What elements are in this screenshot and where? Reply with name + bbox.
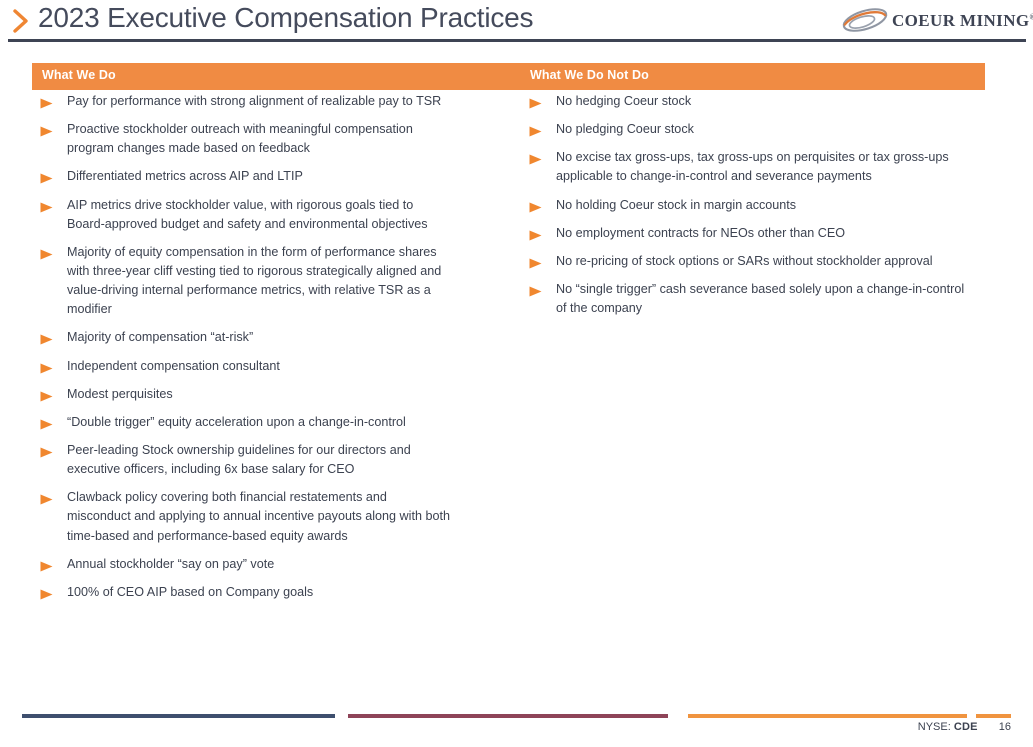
triangle-bullet-icon — [529, 284, 542, 295]
coeur-swoosh-icon — [840, 7, 890, 33]
list-item: Proactive stockholder outreach with mean… — [40, 120, 452, 158]
bullet-text: No pledging Coeur stock — [556, 120, 969, 139]
bullet-text: Majority of equity compensation in the f… — [67, 243, 452, 320]
list-item: Pay for performance with strong alignmen… — [40, 92, 452, 111]
what-we-do-heading: What We Do — [42, 68, 116, 82]
bullet-text: No re-pricing of stock options or SARs w… — [556, 252, 969, 271]
bullet-text: Clawback policy covering both financial … — [67, 488, 452, 545]
title-underline-rule — [8, 39, 1026, 42]
bullet-text: Modest perquisites — [67, 385, 452, 404]
bullet-text: AIP metrics drive stockholder value, wit… — [67, 196, 452, 234]
triangle-bullet-icon — [40, 171, 53, 182]
list-item: No excise tax gross-ups, tax gross-ups o… — [529, 148, 969, 186]
bullet-text: No employment contracts for NEOs other t… — [556, 224, 969, 243]
logo-company-name: COEUR MINING — [892, 11, 1030, 30]
triangle-bullet-icon — [529, 228, 542, 239]
list-item: No re-pricing of stock options or SARs w… — [529, 252, 969, 271]
bullet-text: Differentiated metrics across AIP and LT… — [67, 167, 452, 186]
triangle-bullet-icon — [529, 200, 542, 211]
bullet-text: No holding Coeur stock in margin account… — [556, 196, 969, 215]
triangle-bullet-icon — [529, 124, 542, 135]
list-item: Annual stockholder “say on pay” vote — [40, 555, 452, 574]
list-item: No “single trigger” cash severance based… — [529, 280, 969, 318]
footer-rule-orange-segment — [976, 714, 1011, 718]
bullet-text: No excise tax gross-ups, tax gross-ups o… — [556, 148, 969, 186]
triangle-bullet-icon — [40, 124, 53, 135]
bullet-text: “Double trigger” equity acceleration upo… — [67, 413, 452, 432]
list-item: AIP metrics drive stockholder value, wit… — [40, 196, 452, 234]
triangle-bullet-icon — [40, 361, 53, 372]
page-title: 2023 Executive Compensation Practices — [38, 2, 533, 34]
bullet-text: No “single trigger” cash severance based… — [556, 280, 969, 318]
list-item: Peer-leading Stock ownership guidelines … — [40, 441, 452, 479]
list-item: Majority of equity compensation in the f… — [40, 243, 452, 320]
triangle-bullet-icon — [40, 96, 53, 107]
bullet-text: Peer-leading Stock ownership guidelines … — [67, 441, 452, 479]
bullet-text: No hedging Coeur stock — [556, 92, 969, 111]
triangle-bullet-icon — [40, 200, 53, 211]
bullet-text: Pay for performance with strong alignmen… — [67, 92, 452, 111]
triangle-bullet-icon — [40, 247, 53, 258]
nyse-ticker: CDE — [954, 721, 978, 733]
triangle-bullet-icon — [40, 587, 53, 598]
footer-rule-navy — [22, 714, 335, 718]
triangle-bullet-icon — [529, 152, 542, 163]
triangle-bullet-icon — [40, 417, 53, 428]
list-item: Clawback policy covering both financial … — [40, 488, 452, 545]
list-item: Differentiated metrics across AIP and LT… — [40, 167, 452, 186]
bullet-text: Proactive stockholder outreach with mean… — [67, 120, 452, 158]
footer-rule-orange — [688, 714, 967, 718]
triangle-bullet-icon — [40, 559, 53, 570]
list-item: No hedging Coeur stock — [529, 92, 969, 111]
what-we-do-not-do-list: No hedging Coeur stockNo pledging Coeur … — [529, 92, 969, 327]
footer-rule-maroon — [348, 714, 668, 718]
list-item: “Double trigger” equity acceleration upo… — [40, 413, 452, 432]
list-item: 100% of CEO AIP based on Company goals — [40, 583, 452, 602]
bullet-text: Independent compensation consultant — [67, 357, 452, 376]
list-item: Majority of compensation “at-risk” — [40, 328, 452, 347]
triangle-bullet-icon — [529, 96, 542, 107]
chevron-right-icon — [10, 8, 32, 34]
triangle-bullet-icon — [529, 256, 542, 267]
bullet-text: 100% of CEO AIP based on Company goals — [67, 583, 452, 602]
column-headers-band: What We Do What We Do Not Do — [32, 63, 985, 90]
footer-meta: NYSE: CDE 16 — [918, 721, 1011, 733]
page-number: 16 — [999, 721, 1011, 733]
bullet-text: Annual stockholder “say on pay” vote — [67, 555, 452, 574]
list-item: Modest perquisites — [40, 385, 452, 404]
bullet-text: Majority of compensation “at-risk” — [67, 328, 452, 347]
list-item: No holding Coeur stock in margin account… — [529, 196, 969, 215]
triangle-bullet-icon — [40, 389, 53, 400]
list-item: Independent compensation consultant — [40, 357, 452, 376]
triangle-bullet-icon — [40, 332, 53, 343]
registered-trademark-icon: ® — [1030, 12, 1033, 21]
what-we-do-not-do-heading: What We Do Not Do — [530, 68, 649, 82]
what-we-do-list: Pay for performance with strong alignmen… — [40, 92, 452, 611]
list-item: No pledging Coeur stock — [529, 120, 969, 139]
nyse-label: NYSE: — [918, 721, 951, 733]
triangle-bullet-icon — [40, 492, 53, 503]
logo-wordmark: COEUR MINING® — [892, 11, 1033, 31]
triangle-bullet-icon — [40, 445, 53, 456]
coeur-mining-logo: COEUR MINING® — [840, 4, 1026, 36]
list-item: No employment contracts for NEOs other t… — [529, 224, 969, 243]
